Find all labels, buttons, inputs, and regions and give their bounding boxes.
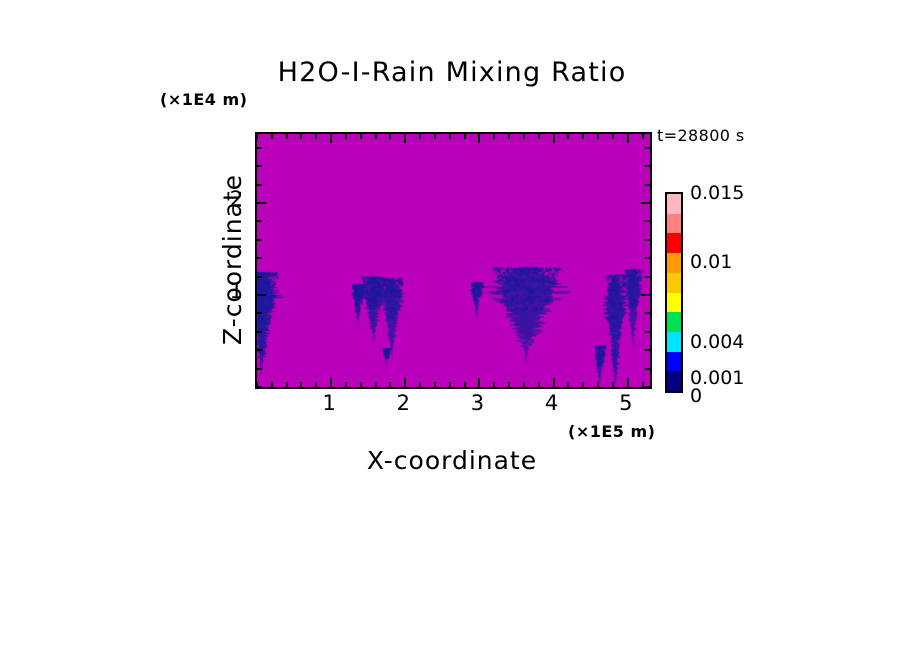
- page-title: H2O-I-Rain Mixing Ratio: [0, 57, 904, 88]
- y-minor-tick-right: [645, 220, 650, 222]
- y-minor-tick-right: [645, 239, 650, 241]
- colorbar-band-pink-light: [667, 194, 681, 214]
- x-minor-tick: [360, 382, 362, 387]
- x-major-tick-top: [478, 134, 480, 143]
- x-minor-tick-top: [256, 134, 258, 139]
- x-minor-tick: [508, 382, 510, 387]
- x-major-tick: [553, 378, 555, 387]
- x-minor-tick-top: [508, 134, 510, 139]
- x-minor-tick-top: [419, 134, 421, 139]
- x-minor-tick-top: [523, 134, 525, 139]
- x-minor-tick: [271, 382, 273, 387]
- y-minor-tick-right: [645, 257, 650, 259]
- time-annotation: t=28800 s: [657, 126, 745, 145]
- x-minor-tick: [538, 382, 540, 387]
- y-minor-tick: [257, 331, 262, 333]
- x-minor-tick: [597, 382, 599, 387]
- figure-canvas: H2O-I-Rain Mixing Ratio (×1E4 m) (×1E5 m…: [0, 0, 904, 654]
- x-tick-label: 5: [606, 391, 646, 415]
- x-minor-tick-top: [642, 134, 644, 139]
- colorbar-band-navy: [667, 371, 681, 391]
- colorbar-tick-label: 0: [690, 385, 702, 407]
- y-minor-tick: [257, 349, 262, 351]
- x-tick-label: 1: [309, 391, 349, 415]
- x-axis-unit-label: (×1E5 m): [568, 422, 655, 441]
- x-minor-tick-top: [464, 134, 466, 139]
- x-minor-tick: [434, 382, 436, 387]
- y-major-tick: [257, 294, 266, 296]
- x-major-tick: [404, 378, 406, 387]
- y-minor-tick: [257, 312, 262, 314]
- y-minor-tick-right: [645, 386, 650, 388]
- x-major-tick-top: [404, 134, 406, 143]
- y-minor-tick-right: [645, 349, 650, 351]
- x-tick-label: 3: [457, 391, 497, 415]
- x-minor-tick: [449, 382, 451, 387]
- x-minor-tick-top: [597, 134, 599, 139]
- x-axis-title: X-coordinate: [0, 446, 904, 475]
- x-minor-tick: [345, 382, 347, 387]
- colorbar-band-yellow: [667, 293, 681, 313]
- x-minor-tick-top: [434, 134, 436, 139]
- y-minor-tick-right: [645, 165, 650, 167]
- colorbar-band-green: [667, 312, 681, 332]
- y-minor-tick-right: [645, 147, 650, 149]
- y-minor-tick-right: [645, 184, 650, 186]
- y-minor-tick: [257, 257, 262, 259]
- colorbar-band-blue: [667, 352, 681, 372]
- x-minor-tick-top: [300, 134, 302, 139]
- colorbar-tick-label: 0.01: [690, 251, 732, 273]
- x-minor-tick: [523, 382, 525, 387]
- x-minor-tick: [582, 382, 584, 387]
- y-minor-tick: [257, 147, 262, 149]
- x-minor-tick: [375, 382, 377, 387]
- y-minor-tick: [257, 165, 262, 167]
- y-major-tick: [257, 202, 266, 204]
- y-major-tick-right: [641, 202, 650, 204]
- x-minor-tick: [315, 382, 317, 387]
- x-minor-tick: [286, 382, 288, 387]
- x-minor-tick-top: [360, 134, 362, 139]
- y-tick-label: 2: [215, 187, 243, 211]
- colorbar-band-cyan: [667, 332, 681, 352]
- heatmap-field: [257, 134, 650, 387]
- y-tick-label: 1: [215, 279, 243, 303]
- y-minor-tick-right: [645, 368, 650, 370]
- x-minor-tick-top: [315, 134, 317, 139]
- x-minor-tick: [642, 382, 644, 387]
- y-axis-unit-label: (×1E4 m): [160, 90, 247, 109]
- x-minor-tick-top: [345, 134, 347, 139]
- x-tick-label: 2: [383, 391, 423, 415]
- x-tick-label: 4: [532, 391, 572, 415]
- x-major-tick: [330, 378, 332, 387]
- y-minor-tick: [257, 386, 262, 388]
- x-minor-tick-top: [538, 134, 540, 139]
- y-minor-tick: [257, 276, 262, 278]
- x-minor-tick-top: [612, 134, 614, 139]
- colorbar-band-amber: [667, 273, 681, 293]
- y-major-tick-right: [641, 294, 650, 296]
- x-minor-tick: [419, 382, 421, 387]
- x-minor-tick: [464, 382, 466, 387]
- x-minor-tick-top: [271, 134, 273, 139]
- x-minor-tick-top: [375, 134, 377, 139]
- y-minor-tick-right: [645, 331, 650, 333]
- x-minor-tick-top: [493, 134, 495, 139]
- x-minor-tick-top: [449, 134, 451, 139]
- x-minor-tick: [300, 382, 302, 387]
- y-minor-tick-right: [645, 312, 650, 314]
- x-minor-tick: [612, 382, 614, 387]
- x-minor-tick-top: [286, 134, 288, 139]
- x-major-tick-top: [627, 134, 629, 143]
- x-minor-tick-top: [389, 134, 391, 139]
- colorbar-band-salmon: [667, 214, 681, 234]
- x-major-tick: [478, 378, 480, 387]
- colorbar-band-red: [667, 233, 681, 253]
- y-minor-tick: [257, 368, 262, 370]
- y-minor-tick: [257, 239, 262, 241]
- x-minor-tick-top: [582, 134, 584, 139]
- x-minor-tick: [567, 382, 569, 387]
- colorbar: [665, 192, 683, 393]
- x-minor-tick: [389, 382, 391, 387]
- plot-area: [255, 132, 652, 389]
- x-major-tick-top: [553, 134, 555, 143]
- x-major-tick: [627, 378, 629, 387]
- y-minor-tick: [257, 220, 262, 222]
- x-major-tick-top: [330, 134, 332, 143]
- y-minor-tick: [257, 184, 262, 186]
- colorbar-band-orange: [667, 253, 681, 273]
- y-minor-tick-right: [645, 276, 650, 278]
- x-minor-tick: [493, 382, 495, 387]
- colorbar-tick-label: 0.004: [690, 331, 744, 353]
- colorbar-tick-label: 0.015: [690, 182, 744, 204]
- x-minor-tick-top: [567, 134, 569, 139]
